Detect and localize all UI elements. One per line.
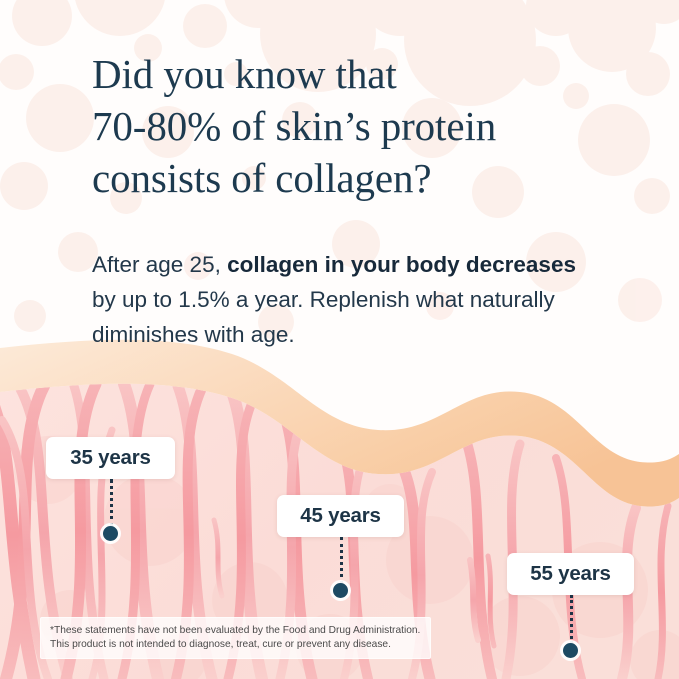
callout-dot-35[interactable] (103, 526, 118, 541)
callout-label-45[interactable]: 45 years (277, 495, 404, 537)
headline-line-3: consists of collagen? (92, 152, 632, 204)
page-title: Did you know that 70-80% of skin’s prote… (92, 48, 632, 204)
disclaimer-line-1: *These statements have not been evaluate… (50, 624, 421, 638)
callout-dot-55[interactable] (563, 643, 578, 658)
body-bold-emphasis: collagen in your body decreases (227, 252, 576, 277)
collagen-infographic: Did you know that 70-80% of skin’s prote… (0, 0, 679, 679)
callout-dot-45[interactable] (333, 583, 348, 598)
callout-leader-line-35 (110, 479, 113, 527)
disclaimer-line-2: This product is not intended to diagnose… (50, 638, 421, 652)
body-copy: After age 25, collagen in your body decr… (92, 247, 604, 352)
callout-leader-line-55 (570, 595, 573, 644)
headline-line-1: Did you know that (92, 48, 632, 100)
disclaimer-box: *These statements have not been evaluate… (40, 617, 431, 659)
headline-line-2: 70-80% of skin’s protein (92, 100, 632, 152)
callout-label-55[interactable]: 55 years (507, 553, 634, 595)
body-segment-1: After age 25, (92, 252, 227, 277)
body-segment-2: by up to 1.5% a year. Replenish what nat… (92, 287, 555, 347)
callout-label-35[interactable]: 35 years (46, 437, 175, 479)
callout-leader-line-45 (340, 537, 343, 584)
